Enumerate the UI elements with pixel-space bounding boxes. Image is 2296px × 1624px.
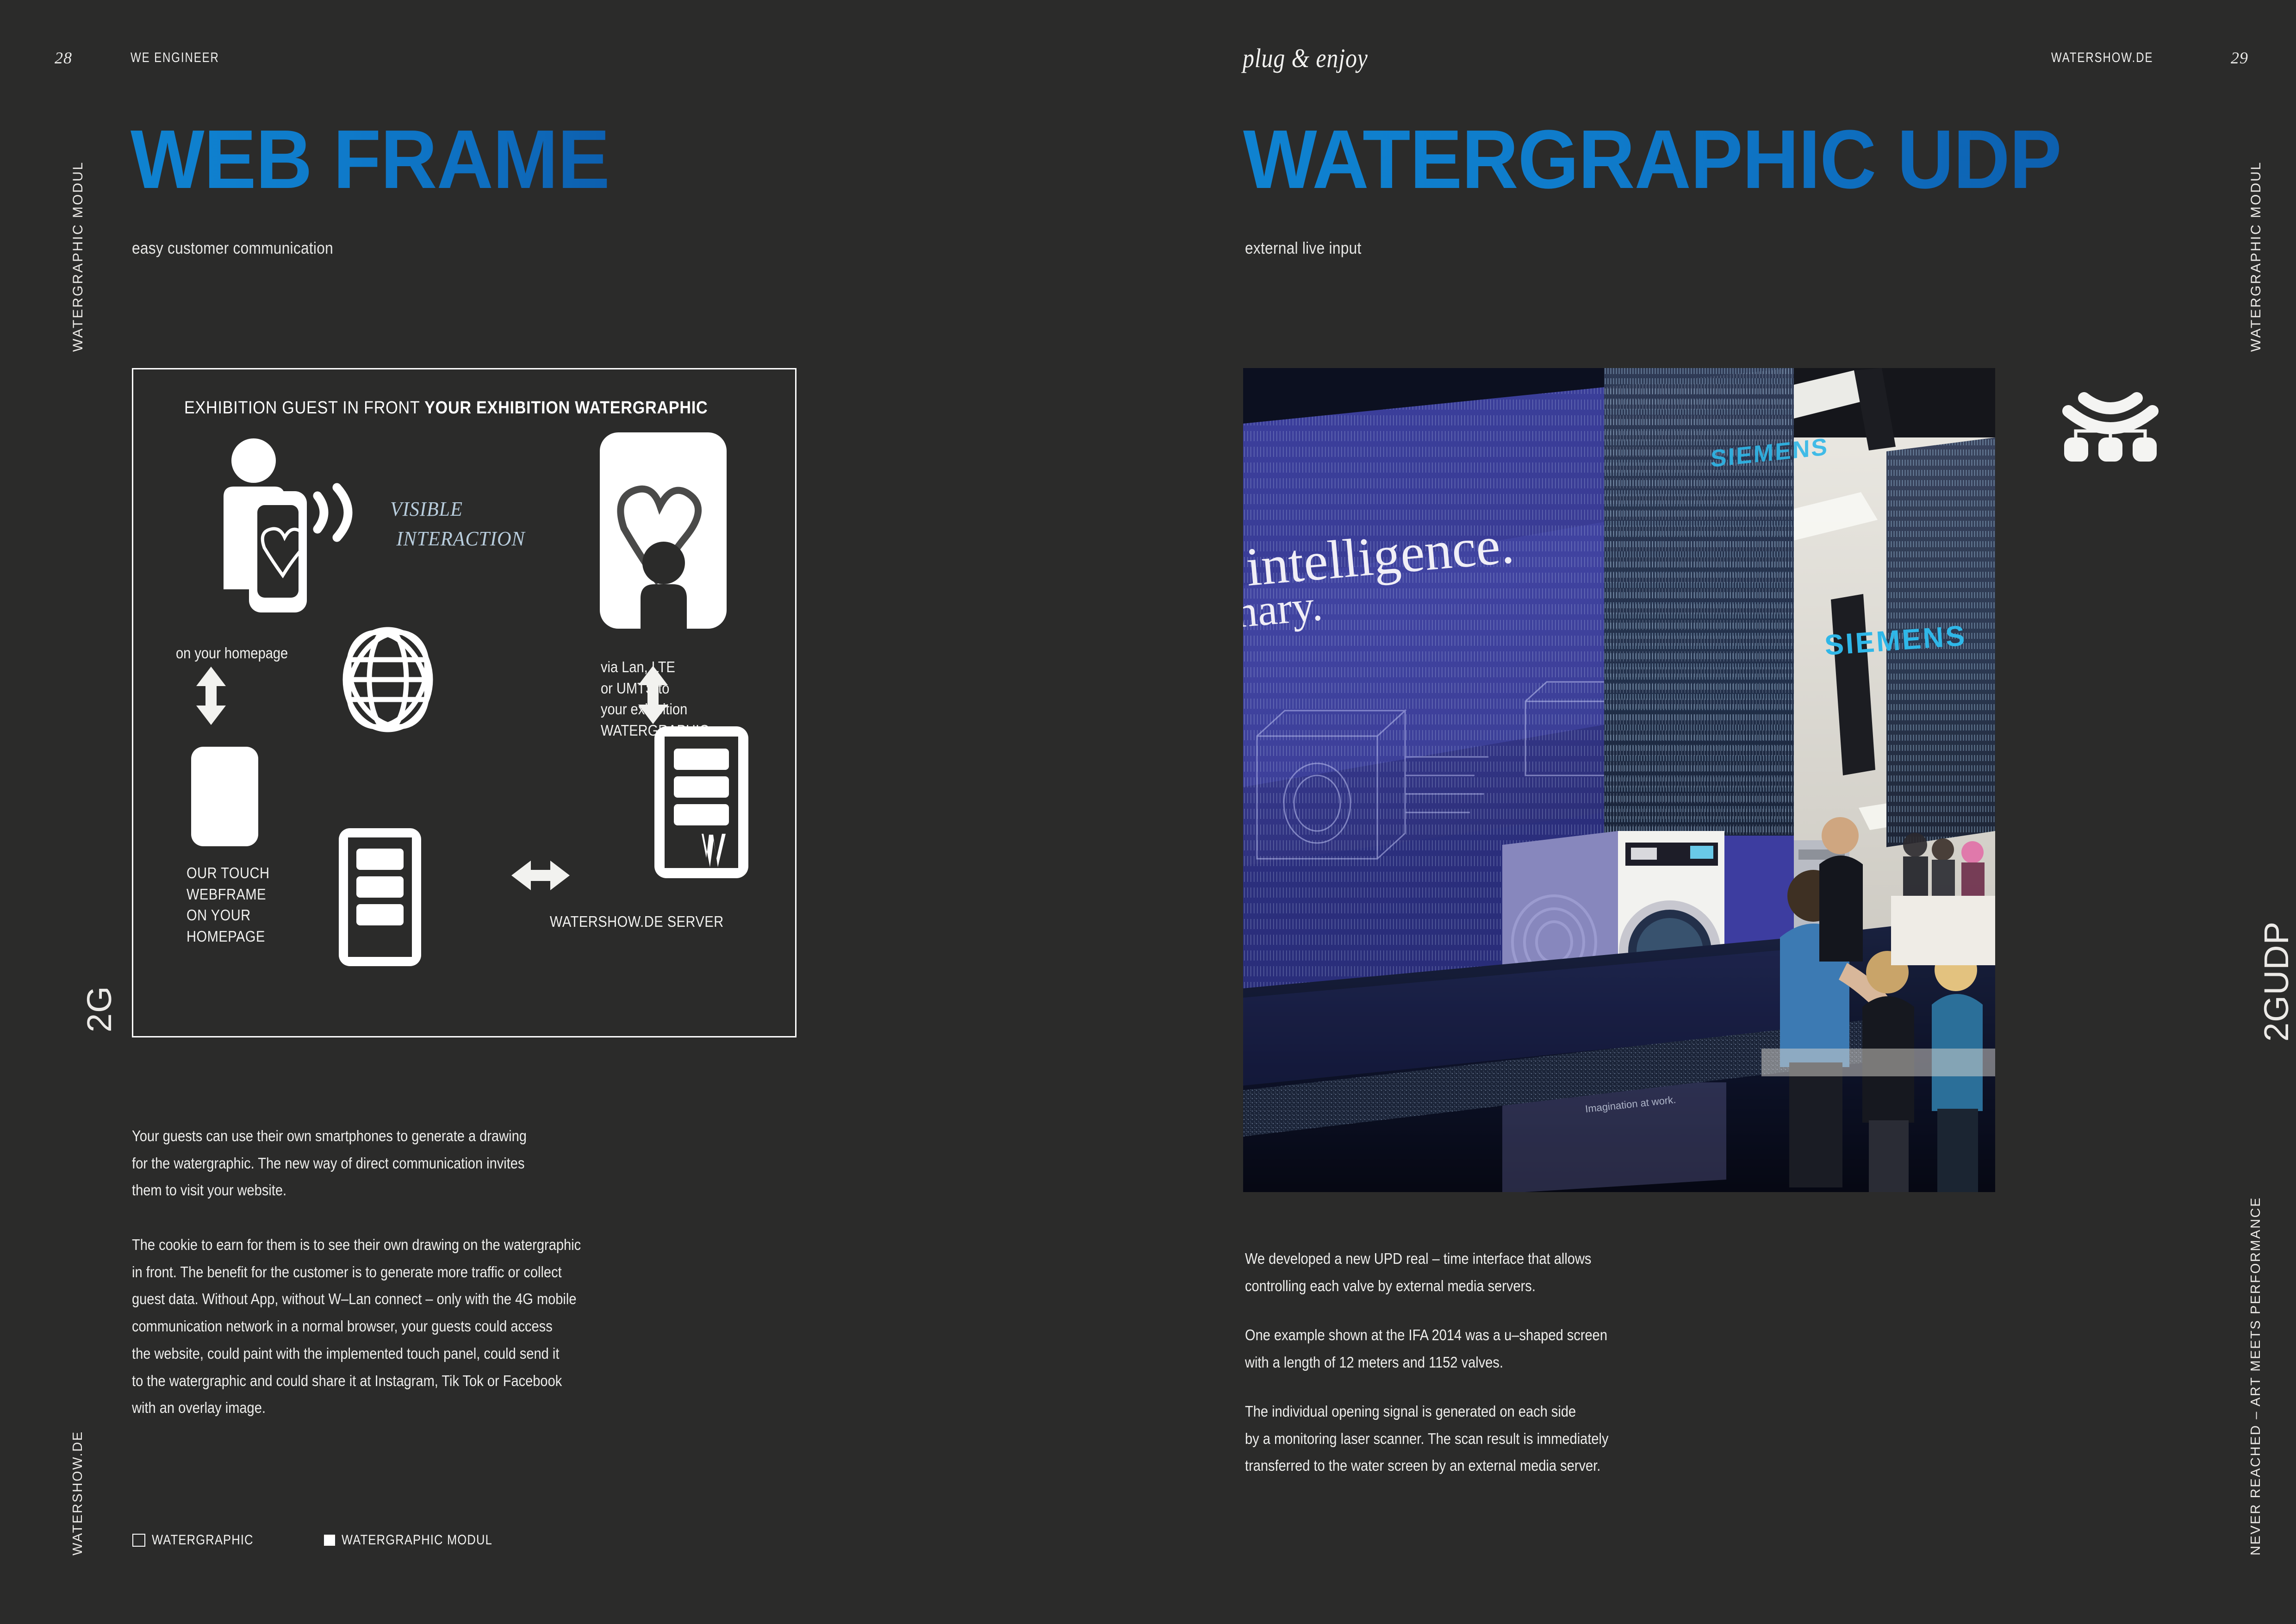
running-head: 28 WE ENGINEER plug & enjoy WATERSHOW.DE… [0, 46, 2296, 74]
side-tab-right-bottom: NEVER REACHED – ART MEETS PERFORMANCE [2248, 1197, 2264, 1555]
label-on-your-homepage: on your homepage [176, 643, 288, 664]
server-panel-icon [652, 724, 751, 881]
legend-marker-hollow-icon [132, 1534, 145, 1547]
photo-caption-nary: nary. [1243, 580, 1324, 637]
legend-label-watergraphic: WATERGRAPHIC [152, 1532, 254, 1548]
person-with-smartphone-icon [205, 432, 399, 626]
page-subtitle-left: easy customer communication [132, 238, 333, 258]
webframe-diagram: EXHIBITION GUEST IN FRONT YOUR EXHIBITIO… [132, 368, 796, 1037]
network-distribution-icon [2062, 377, 2159, 463]
globe-icon [337, 626, 439, 733]
side-tab-left-top: WATERGRAPHIC MODUL [70, 161, 86, 352]
spread-page: 28 WE ENGINEER plug & enjoy WATERSHOW.DE… [0, 0, 2296, 1624]
visible-interaction-line1: VISIBLE [390, 498, 463, 520]
legend-marker-solid-icon [324, 1535, 335, 1546]
running-head-label-left: WE ENGINEER [131, 50, 219, 66]
label-watershow-server: WATERSHOW.DE SERVER [550, 911, 724, 932]
right-body-paragraph-2: One example shown at the IFA 2014 was a … [1245, 1322, 1807, 1376]
visible-interaction-label: VISIBLE INTERACTION [390, 494, 525, 554]
page-number-left: 28 [55, 48, 72, 68]
page-subtitle-right: external live input [1245, 238, 1362, 258]
page-number-right: 29 [2231, 48, 2248, 68]
visitor-man-suit [1819, 817, 1863, 962]
wifi-signal-icon [317, 487, 348, 537]
diagram-heading-regular: EXHIBITION GUEST IN FRONT [184, 398, 424, 418]
watergraphic-exhibition-photo: intelligence. nary. [1243, 368, 1995, 1192]
running-head-motto: plug & enjoy [1243, 43, 1368, 74]
visible-interaction-line2: INTERACTION [396, 524, 525, 554]
side-tab-right-top: WATERGRAPHIC MODUL [2248, 161, 2264, 352]
legend-item-watergraphic[interactable]: WATERGRAPHIC [132, 1532, 271, 1548]
left-body-paragraph-1: Your guests can use their own smartphone… [132, 1123, 767, 1204]
right-body-paragraph-1: We developed a new UPD real – time inter… [1245, 1245, 1807, 1299]
label-touch-webframe: OUR TOUCH WEBFRAME ON YOUR HOMEPAGE [187, 862, 270, 947]
side-tab-right-mid: 2GUDP [2257, 921, 2296, 1042]
page-title-left: WEB FRAME [131, 118, 610, 201]
right-body-paragraph-3: The individual opening signal is generat… [1245, 1398, 1807, 1480]
diagram-heading: EXHIBITION GUEST IN FRONT YOUR EXHIBITIO… [184, 398, 708, 418]
running-head-label-right: WATERSHOW.DE [2051, 50, 2153, 66]
side-tab-left-mid: 2G [80, 986, 119, 1032]
webframe-panel-icon [336, 825, 424, 969]
left-right-arrow-icon [510, 858, 571, 893]
watergraphic-screen-icon [596, 429, 730, 632]
page-title-right: WATERGRAPHIC UDP [1243, 118, 2061, 201]
legend-item-watergraphic-modul[interactable]: WATERGRAPHIC MODUL [324, 1532, 519, 1548]
diagram-heading-bold: YOUR EXHIBITION WATERGRAPHIC [424, 398, 708, 418]
legend-label-watergraphic-modul: WATERGRAPHIC MODUL [342, 1532, 492, 1548]
left-body-paragraph-2: The cookie to earn for them is to see th… [132, 1231, 792, 1422]
up-down-arrow-icon [193, 666, 229, 726]
side-tab-left-bottom: WATERSHOW.DE [70, 1430, 86, 1555]
blank-screen-icon [191, 747, 258, 846]
